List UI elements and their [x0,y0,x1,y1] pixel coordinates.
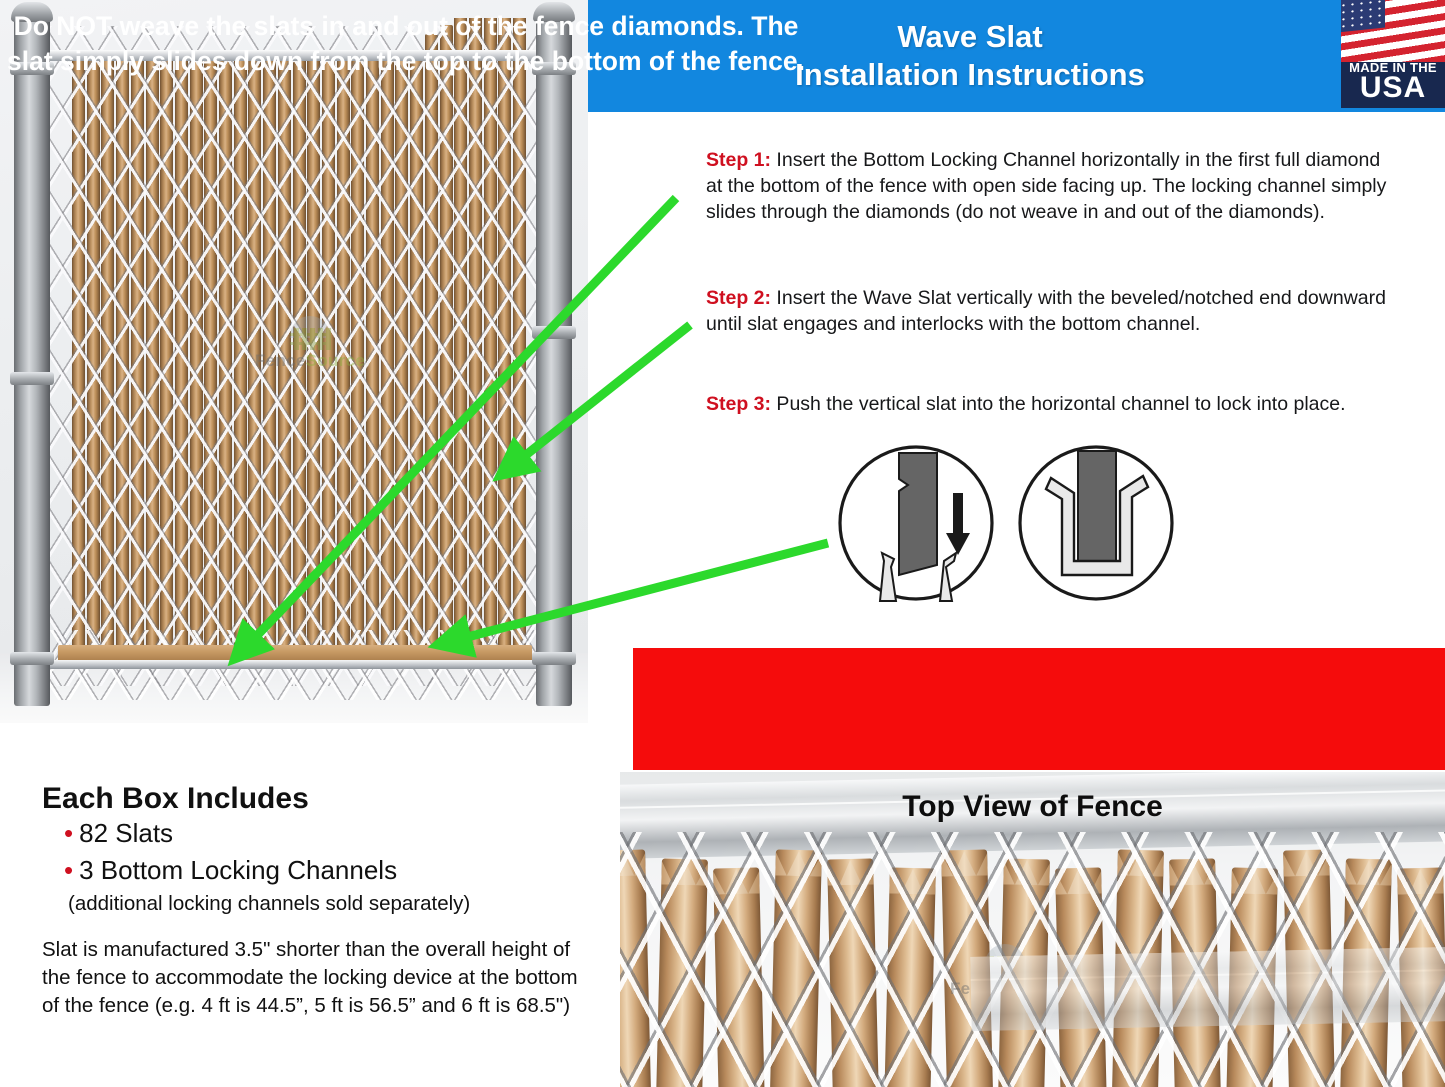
fence-slat [293,52,306,658]
fence-slat [498,18,511,658]
step-2-label: Step 2: [706,287,771,309]
fence-slat [248,52,261,658]
fence-slat [513,18,526,658]
fence-slat [175,52,188,658]
fence-slat [190,52,203,658]
warning-banner [633,648,1445,770]
fence-slat [101,52,114,658]
post-band [10,372,54,385]
fence-slat [410,52,423,658]
bullet-2-label: 3 Bottom Locking Channels [79,855,397,885]
fence-slat [469,18,482,658]
bullet-dot-icon: • [64,818,73,848]
fence-slat [204,52,217,658]
us-flag-icon [1341,0,1445,62]
fence-post-left [14,16,50,706]
fence-slat [307,52,320,658]
fence-slat [440,25,453,658]
diagram-slat-entering-channel [840,447,992,601]
locking-channels-note: (additional locking channels sold separa… [68,892,470,916]
diagram-slat-locked-in-channel [1020,447,1172,599]
made-in-usa-badge: MADE IN THE USA [1341,0,1445,108]
chain-link-mesh-topview [620,832,1445,1087]
top-view-title: Top View of Fence [620,790,1445,824]
step-2-instruction: Step 2: Insert the Wave Slat vertically … [706,286,1396,338]
step-3-text: Push the vertical slat into the horizont… [771,393,1346,415]
step-1-label: Step 1: [706,149,771,171]
step-1-text: Insert the Bottom Locking Channel horizo… [706,149,1386,223]
fence-slat [351,52,364,658]
warning-text: Do NOT weave the slats in and out of the… [0,9,812,79]
fence-slat [366,52,379,658]
step-2-text: Insert the Wave Slat vertically with the… [706,287,1386,335]
post-band [532,652,576,665]
post-band [532,326,576,339]
fence-slat [116,52,129,658]
slat-shape-icon [899,453,937,575]
post-band [10,652,54,665]
each-box-includes-title: Each Box Includes [42,782,309,816]
lock-mechanism-diagram [836,443,1176,603]
fence-slat [146,52,159,658]
slat-field [72,18,528,658]
fence-slat [160,52,173,658]
list-item: •3 Bottom Locking Channels [64,855,397,886]
fence-slat [337,52,350,658]
bullet-dot-icon: • [64,855,73,885]
fence-post-right [536,16,572,706]
fence-bottom-rail [30,660,550,669]
fence-installation-photo: FenceSource [0,0,588,723]
slat-measurement-note: Slat is manufactured 3.5" shorter than t… [42,936,594,1020]
fence-slat [395,52,408,658]
fence-slat [234,52,247,658]
fence-slat [454,18,467,658]
badge-line-2: USA [1341,73,1445,103]
step-3-instruction: Step 3: Push the vertical slat into the … [706,392,1396,418]
bullet-1-label: 82 Slats [79,818,173,848]
fence-slat [425,34,438,658]
fence-slat [72,52,85,658]
fence-slat [131,52,144,658]
list-item: •82 Slats [64,818,173,849]
fence-slat [219,52,232,658]
fence-slat [381,52,394,658]
fence-slat [263,52,276,658]
step-1-instruction: Step 1: Insert the Bottom Locking Channe… [706,148,1396,226]
top-view-fence-photo: Top View of Fence FenceSource [620,772,1445,1087]
fence-slat [87,52,100,658]
fence-slat [484,18,497,658]
fence-slat [322,52,335,658]
fence-slat [278,52,291,658]
step-3-label: Step 3: [706,393,771,415]
